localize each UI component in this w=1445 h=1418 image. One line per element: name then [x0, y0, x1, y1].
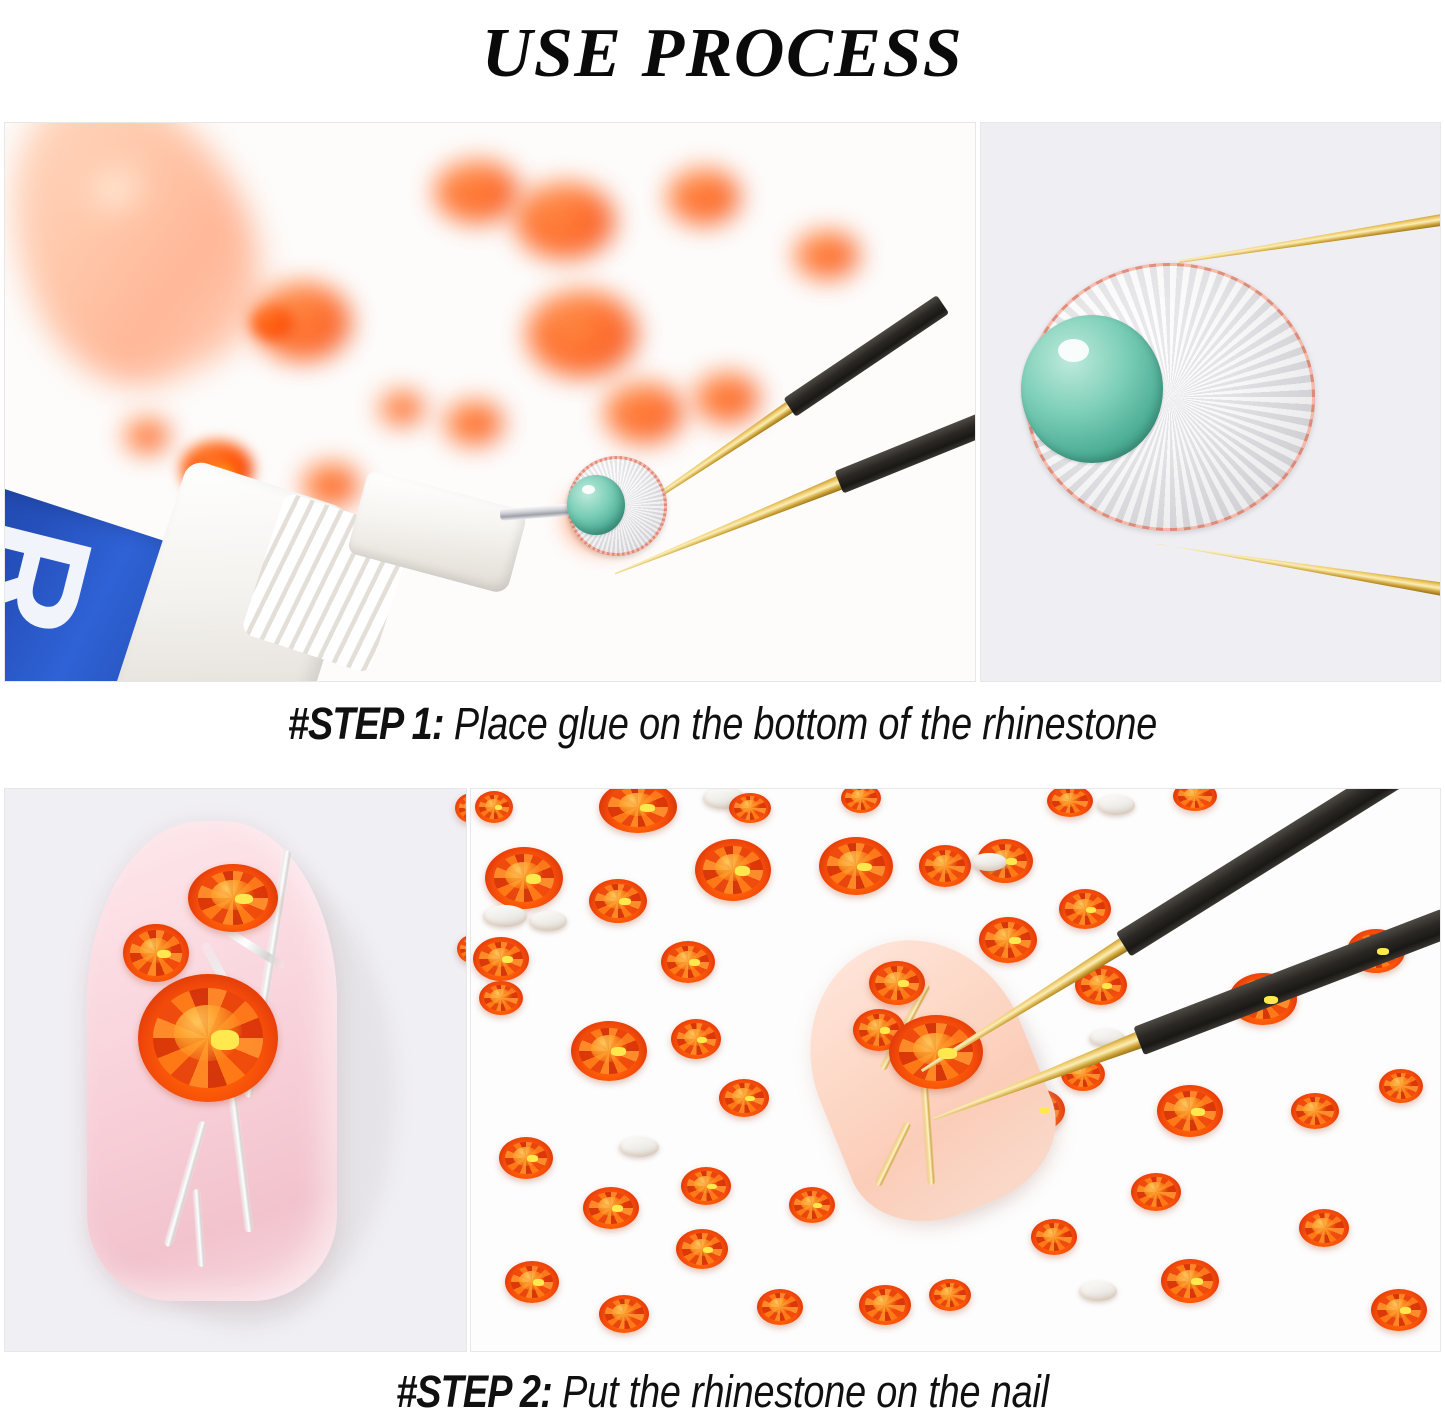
- scattered-rhinestone: [479, 981, 523, 1015]
- bokeh-stone: [445, 401, 503, 445]
- glue-droplet: [567, 475, 625, 535]
- gem-flash: [211, 1030, 239, 1049]
- rhinestone-on-nail: [869, 961, 925, 1005]
- scattered-rhinestone: [485, 847, 563, 909]
- scattered-rhinestone: [599, 788, 677, 833]
- scattered-rhinestone-back: [1097, 795, 1135, 815]
- scattered-rhinestone: [671, 1019, 721, 1059]
- scattered-rhinestone: [1299, 1209, 1349, 1247]
- step-1-tag: #STEP 1:: [288, 698, 444, 749]
- scattered-rhinestone: [1131, 1173, 1181, 1211]
- photo-content: [5, 789, 466, 1351]
- photo-content: R B: [5, 123, 975, 681]
- nail-glint: [89, 167, 143, 213]
- tweezer-black-grip: [783, 295, 949, 417]
- gem-flash: [157, 950, 170, 959]
- step-1-image-row: R B: [4, 122, 1441, 682]
- bokeh-stone: [252, 307, 292, 339]
- scattered-rhinestone: [1031, 1219, 1077, 1255]
- bokeh-stone: [515, 183, 615, 259]
- scattered-rhinestone: [979, 917, 1037, 963]
- rhinestone-edge: [455, 793, 467, 823]
- scattered-rhinestone: [1379, 1069, 1423, 1103]
- scattered-rhinestone: [789, 1187, 835, 1223]
- rhinestone-on-nail: [123, 924, 189, 982]
- rhinestone-edge: [457, 935, 467, 963]
- scattered-rhinestone: [841, 788, 881, 813]
- bokeh-stone: [605, 383, 683, 443]
- glue-on-rhinestone-photo: R B: [4, 122, 976, 682]
- scattered-rhinestone: [729, 793, 771, 823]
- scattered-rhinestone: [819, 837, 893, 895]
- bokeh-stone: [695, 373, 759, 423]
- droplet-highlight: [1058, 339, 1089, 363]
- placing-rhinestone-photo: [470, 788, 1441, 1352]
- gem-flash: [235, 894, 253, 904]
- scattered-rhinestone: [719, 1079, 769, 1117]
- scattered-rhinestone: [599, 1295, 649, 1333]
- rhinestone-on-nail: [188, 864, 278, 932]
- scattered-rhinestone: [859, 1285, 911, 1325]
- scattered-rhinestone: [475, 791, 513, 823]
- scattered-rhinestone: [499, 1137, 553, 1179]
- scattered-rhinestone: [571, 1021, 647, 1081]
- scattered-rhinestone: [661, 941, 715, 983]
- scattered-rhinestone: [681, 1167, 731, 1205]
- scattered-rhinestone: [919, 845, 971, 887]
- scattered-rhinestone-back: [971, 853, 1007, 871]
- bokeh-stone: [527, 291, 637, 377]
- step-1-caption: #STEP 1: Place glue on the bottom of the…: [116, 698, 1330, 750]
- finished-nail-photo: [4, 788, 467, 1352]
- bokeh-stone: [668, 169, 740, 225]
- tweezer-black-grip: [835, 404, 976, 494]
- scattered-rhinestone-back: [483, 905, 527, 927]
- glue-droplet-large: [1021, 315, 1163, 463]
- tweezer-gold-section: [1156, 537, 1441, 598]
- scattered-rhinestone: [473, 937, 529, 981]
- scattered-rhinestone: [589, 879, 647, 923]
- tweezer-gold-section: [1178, 208, 1441, 268]
- blurred-nail-bokeh: [4, 122, 296, 417]
- scattered-rhinestone: [1047, 788, 1093, 817]
- scattered-rhinestone-back: [1079, 1281, 1117, 1301]
- step-2-image-row: [4, 788, 1441, 1352]
- scattered-rhinestone: [757, 1289, 803, 1325]
- rhinestone-closeup-photo: [980, 122, 1441, 682]
- step-2-text: Put the rhinestone on the nail: [552, 1366, 1049, 1417]
- rhinestone-on-nail: [138, 974, 278, 1102]
- bokeh-stone: [125, 419, 169, 453]
- step-2-caption: #STEP 2: Put the rhinestone on the nail: [116, 1366, 1330, 1418]
- scattered-rhinestone-back: [619, 1137, 659, 1157]
- photo-content: [471, 789, 1440, 1351]
- step-1-text: Place glue on the bottom of the rhinesto…: [444, 698, 1158, 749]
- bokeh-stone: [380, 391, 424, 425]
- scattered-rhinestone: [1157, 1085, 1223, 1137]
- scattered-rhinestone: [583, 1187, 639, 1229]
- scattered-rhinestone: [505, 1261, 559, 1303]
- scattered-rhinestone-back: [529, 911, 567, 931]
- tweezer-black-grip: [1133, 909, 1441, 1055]
- scattered-rhinestone: [1161, 1259, 1219, 1303]
- bokeh-stone: [795, 231, 859, 279]
- droplet-highlight: [582, 485, 595, 495]
- scattered-rhinestone: [1371, 1289, 1427, 1331]
- scattered-rhinestone: [1291, 1093, 1339, 1129]
- tweezer-lower-tip: [1156, 535, 1441, 600]
- scattered-rhinestone: [929, 1279, 971, 1311]
- scattered-rhinestone: [676, 1229, 728, 1269]
- step-2-tag: #STEP 2:: [396, 1366, 552, 1417]
- scattered-rhinestone: [1059, 889, 1111, 929]
- bokeh-stone: [435, 161, 519, 223]
- tweezer-upper-tip: [1178, 206, 1441, 269]
- page-title: USE PROCESS: [0, 0, 1445, 108]
- photo-content: [981, 123, 1440, 681]
- scattered-rhinestone: [1173, 788, 1217, 811]
- scattered-rhinestone: [695, 839, 771, 901]
